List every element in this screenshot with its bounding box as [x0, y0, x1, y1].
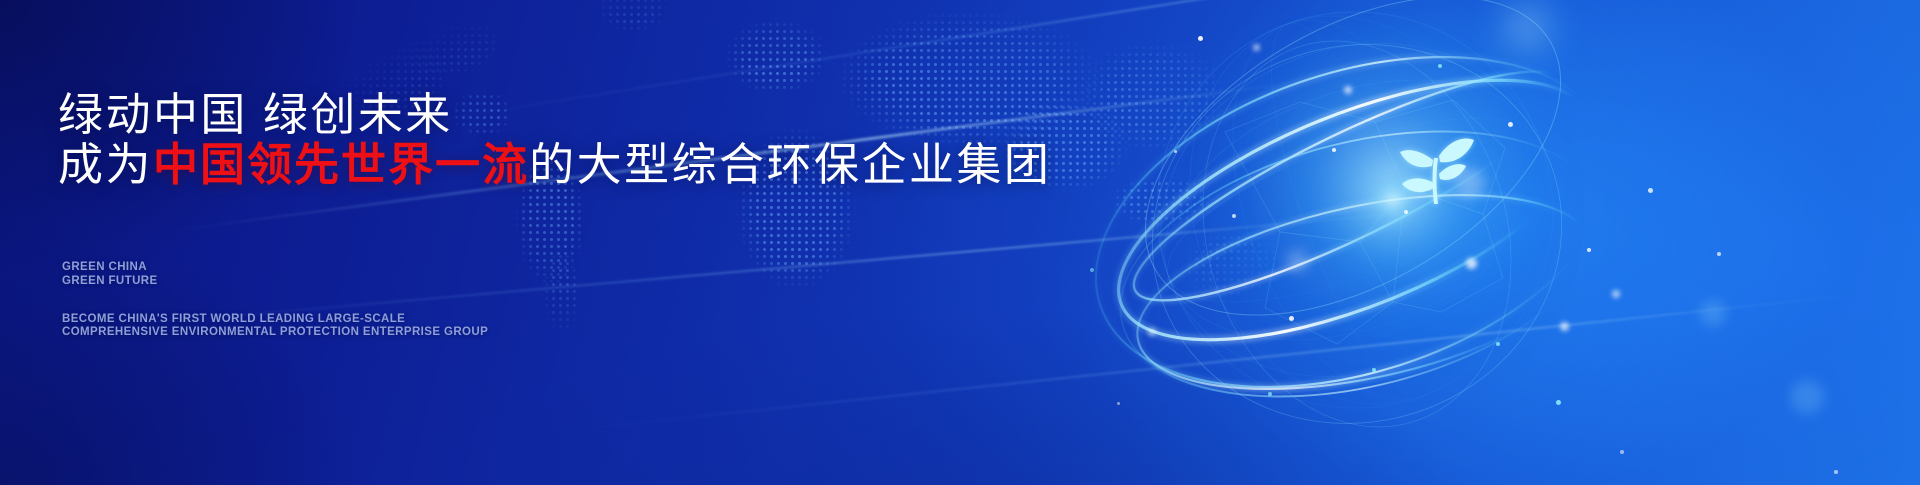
headline-line-2: 成为中国领先世界一流的大型综合环保企业集团: [58, 128, 1051, 193]
headline-accent: 中国领先世界一流: [153, 139, 529, 190]
tagline-line-1: GREEN CHINA: [62, 261, 147, 275]
headline-suffix: 的大型综合环保企业集团: [529, 139, 1051, 190]
description-line-2: COMPREHENSIVE ENVIRONMENTAL PROTECTION E…: [62, 326, 488, 340]
hero-banner: 绿动中国 绿创未来 成为中国领先世界一流的大型综合环保企业集团 GREEN CH…: [0, 0, 1920, 485]
banner-copy: 绿动中国 绿创未来 成为中国领先世界一流的大型综合环保企业集团 GREEN CH…: [0, 0, 1100, 485]
wireframe-globe: [1075, 0, 1635, 485]
description-line-1: BECOME CHINA'S FIRST WORLD LEADING LARGE…: [62, 313, 405, 327]
headline-prefix: 成为: [58, 139, 153, 190]
sprout-seedling-icon: [1378, 112, 1490, 224]
tagline-line-2: GREEN FUTURE: [62, 275, 158, 289]
